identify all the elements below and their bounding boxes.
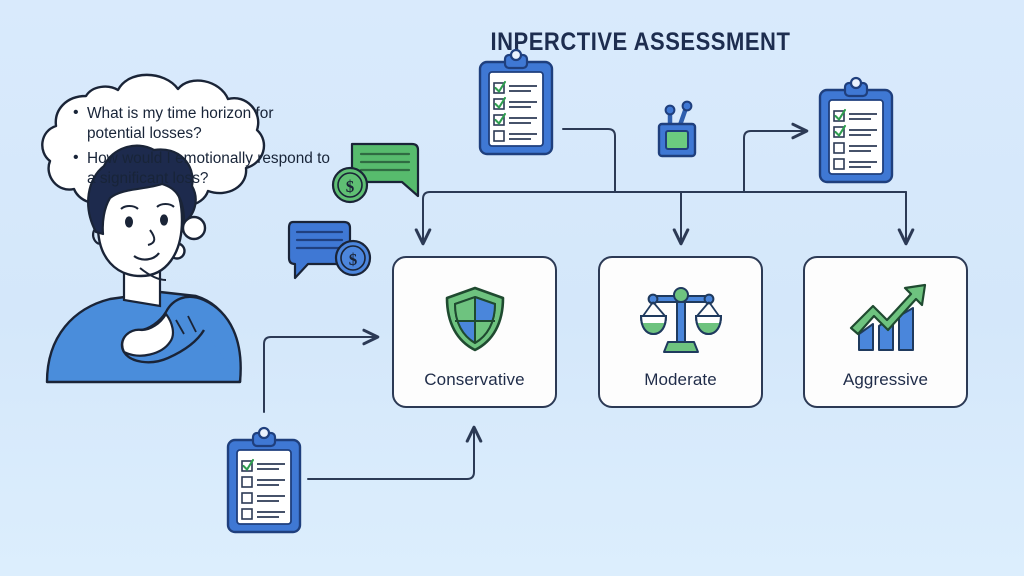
connector-clipboard-bottom-to-conservative	[308, 428, 474, 479]
svg-text:$: $	[349, 250, 358, 269]
thought-bubble-text: What is my time horizon for potential lo…	[72, 104, 334, 194]
balance-scales-icon	[638, 282, 724, 356]
connector-bus-to-clipboard-right	[744, 131, 806, 192]
risk-profile-card-moderate[interactable]: Moderate	[598, 256, 763, 408]
clipboard-top-left	[480, 50, 552, 154]
card-label-aggressive: Aggressive	[843, 370, 928, 390]
growth-chart-icon	[843, 282, 929, 356]
connector-clipboard-to-bus	[563, 129, 615, 192]
bubble-bullet-1: How would I emotionally respond to a sig…	[87, 149, 334, 189]
blue-message-bubble: $	[289, 222, 370, 278]
connector-left-into-conservative	[264, 337, 377, 412]
shield-icon	[432, 282, 518, 356]
clipboard-bottom-left	[228, 428, 300, 532]
assessment-infographic: INPERCTIVE ASSESSMENT	[0, 0, 1024, 576]
green-message-bubble: $	[333, 144, 418, 202]
svg-text:$: $	[346, 177, 355, 196]
pen-holder-cup	[659, 102, 695, 156]
person-eye-right	[160, 214, 168, 225]
clipboard-top-right	[820, 78, 892, 182]
risk-profile-card-conservative[interactable]: Conservative	[392, 256, 557, 408]
risk-profile-card-aggressive[interactable]: Aggressive	[803, 256, 968, 408]
card-label-conservative: Conservative	[424, 370, 524, 390]
connector-bus-to-conservative	[423, 192, 430, 243]
bubble-bullet-0: What is my time horizon for potential lo…	[87, 104, 334, 144]
person-eye-left	[125, 216, 133, 227]
card-label-moderate: Moderate	[644, 370, 717, 390]
